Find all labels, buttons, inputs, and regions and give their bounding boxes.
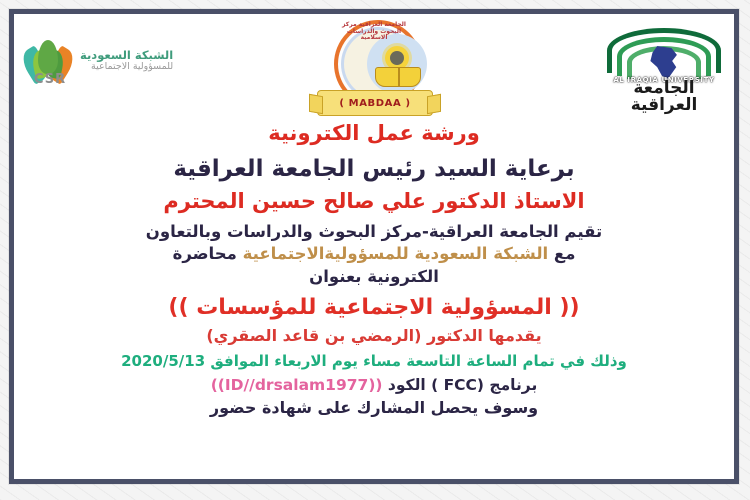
line-organizer: تقيم الجامعة العراقية-مركز البحوث والدرا… <box>28 222 720 241</box>
csr-text-block: الشبكة السعودية للمسؤولية الاجتماعية <box>80 49 173 73</box>
code-prefix: برنامج (FCC ) الكود <box>382 376 537 394</box>
poster-content: ورشة عمل الكترونية برعاية السيد رئيس الج… <box>14 119 734 479</box>
line-speaker: يقدمها الدكتور (الرمضي بن قاعد الصقري) <box>28 327 720 346</box>
csr-name-line2: للمسؤولية الاجتماعية <box>80 62 173 73</box>
line-patron: برعاية السيد رئيس الجامعة العراقية <box>28 156 720 183</box>
line-program-code: برنامج (FCC ) الكود ((ID//drsalam1977)) <box>28 376 720 394</box>
iraqia-arabic-name: الجامعة العراقية <box>604 80 724 115</box>
coop-prefix: مع <box>548 244 575 263</box>
poster-canvas: CSR الشبكة السعودية للمسؤولية الاجتماعية <box>0 0 750 500</box>
line-online-titled: الكترونية بعنوان <box>28 267 720 286</box>
csr-wordmark: CSR <box>34 72 66 87</box>
code-value: ((ID//drsalam1977)) <box>211 376 383 394</box>
seal-arc-text: الجامعة العراقية مركز البحوث والدراسات ا… <box>334 22 414 62</box>
csr-logo: CSR الشبكة السعودية للمسؤولية الاجتماعية <box>22 36 173 86</box>
seal-ribbon-label: ( MABDAA ) <box>317 90 433 116</box>
poster-frame: CSR الشبكة السعودية للمسؤولية الاجتماعية <box>9 9 739 484</box>
poster-sheet: CSR الشبكة السعودية للمسؤولية الاجتماعية <box>14 14 734 479</box>
iraqia-university-logo: AL IRAQIA UNIVERSITY الجامعة العراقية <box>604 26 724 114</box>
line-workshop-heading: ورشة عمل الكترونية <box>28 121 720 146</box>
line-cooperation: مع الشبكة السعودية للمسؤوليةالاجتماعية م… <box>28 244 720 263</box>
open-book-icon <box>375 67 421 87</box>
line-professor-name: الاستاذ الدكتور علي صالح حسين المحترم <box>28 189 720 214</box>
coop-suffix: محاضرة <box>173 244 243 263</box>
csr-leaves-icon: CSR <box>22 36 74 86</box>
line-certificate: وسوف يحصل المشارك على شهادة حضور <box>28 399 720 418</box>
line-datetime: وذلك في تمام الساعة التاسعة مساء يوم الا… <box>28 353 720 371</box>
logo-row: CSR الشبكة السعودية للمسؤولية الاجتماعية <box>14 14 734 119</box>
coop-partner-name: الشبكة السعودية للمسؤوليةالاجتماعية <box>243 244 549 263</box>
lecture-title: (( المسؤولية الاجتماعية للمؤسسات )) <box>28 295 720 321</box>
leaf-center-icon <box>38 40 58 74</box>
mabdaa-seal-logo: الجامعة العراقية مركز البحوث والدراسات ا… <box>315 20 433 116</box>
iraqia-arabic-line2: العراقية <box>604 97 724 114</box>
